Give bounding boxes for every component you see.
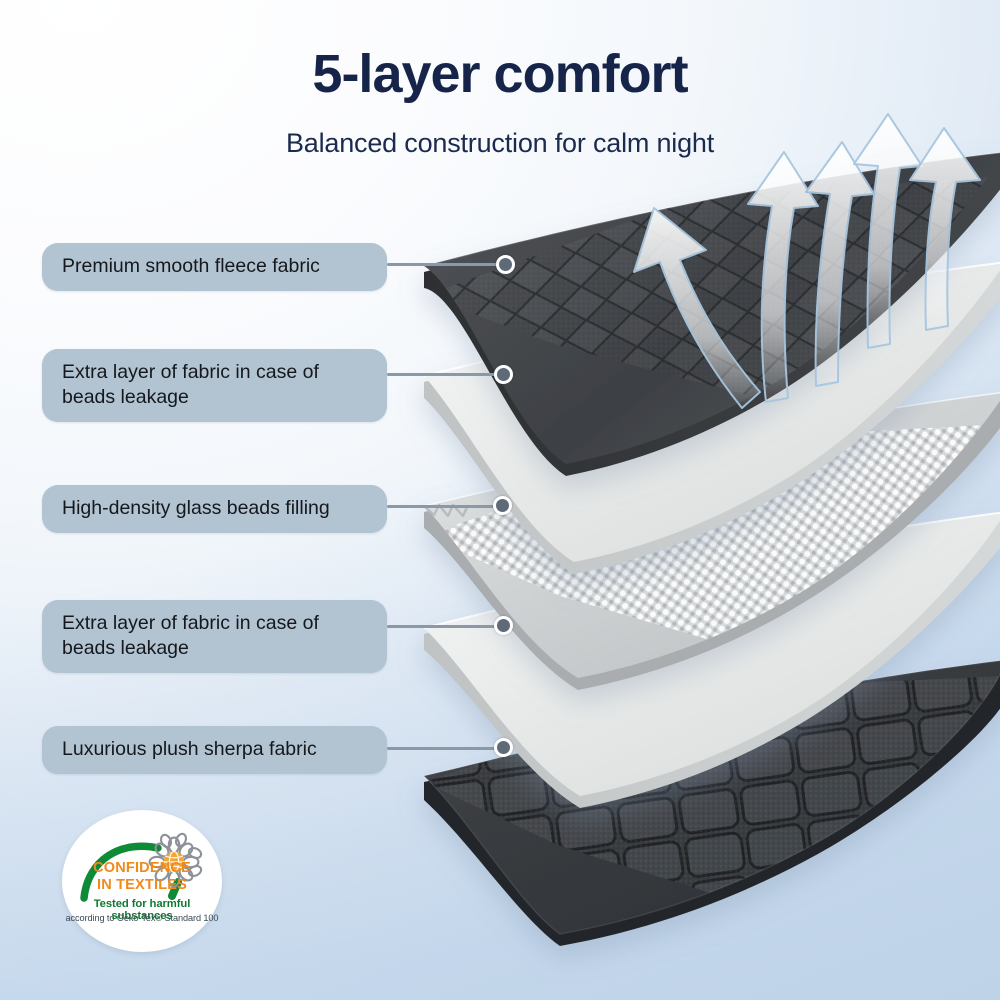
badge-line-2: IN TEXTILES: [62, 877, 222, 893]
layer-label-1[interactable]: Premium smooth fleece fabric: [42, 243, 387, 291]
connector-line-1: [387, 263, 507, 266]
connector-dot-4: [494, 616, 513, 635]
badge-line-4: according to Oeko-Tex® Standard 100: [62, 913, 222, 923]
connector-line-2: [387, 373, 506, 376]
page-subtitle: Balanced construction for calm night: [0, 128, 1000, 159]
connector-line-3: [387, 505, 505, 508]
connector-line-4: [387, 625, 506, 628]
oeko-tex-certification-badge: CONFIDENCE IN TEXTILES Tested for harmfu…: [62, 810, 222, 952]
infographic-canvas: 5-layer comfort Balanced construction fo…: [0, 0, 1000, 1000]
badge-line-1: CONFIDENCE: [62, 860, 222, 876]
layer-label-5[interactable]: Luxurious plush sherpa fabric: [42, 726, 387, 774]
layer-label-3[interactable]: High-density glass beads filling: [42, 485, 387, 533]
connector-dot-5: [494, 738, 513, 757]
connector-dot-3: [493, 496, 512, 515]
connector-dot-2: [494, 365, 513, 384]
page-title: 5-layer comfort: [0, 46, 1000, 103]
layer-label-2[interactable]: Extra layer of fabric in case of beads l…: [42, 349, 387, 422]
layer-label-4[interactable]: Extra layer of fabric in case of beads l…: [42, 600, 387, 673]
connector-line-5: [387, 747, 506, 750]
connector-dot-1: [496, 255, 515, 274]
